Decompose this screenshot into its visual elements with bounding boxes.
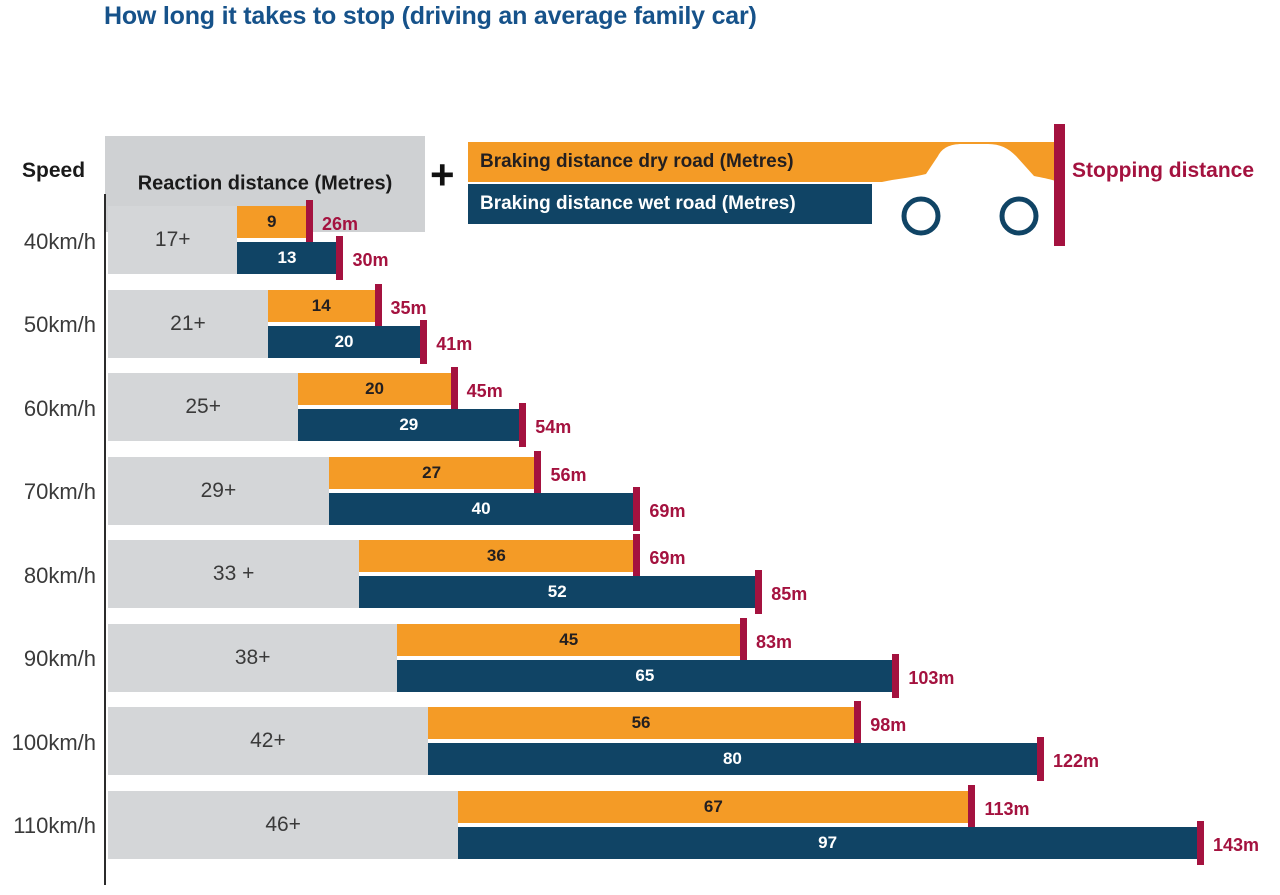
bar-group: 29+274056m69m (108, 457, 633, 525)
reaction-distance-value: 17+ (108, 228, 237, 252)
braking-wet-bar: 13 (237, 242, 336, 274)
stopping-distance-total-wet: 30m (352, 250, 388, 271)
braking-wet-value: 65 (397, 666, 892, 686)
braking-dry-bar: 27 (329, 457, 535, 489)
legend-reaction-label: Reaction distance (Metres) (105, 173, 425, 196)
speed-label: 40km/h (24, 229, 96, 255)
braking-dry-bar: 67 (458, 791, 968, 823)
bar-group: 33 +365269m85m (108, 540, 755, 608)
page-title: How long it takes to stop (driving an av… (104, 2, 757, 31)
chart-row: 40km/h17+91326m30m (0, 200, 1280, 284)
braking-wet-bar: 20 (268, 326, 420, 358)
stopping-distance-marker-wet (892, 654, 899, 698)
chart-row: 110km/h46+6797113m143m (0, 785, 1280, 869)
reaction-distance-bar: 21+ (108, 290, 268, 358)
chart-row: 100km/h42+568098m122m (0, 701, 1280, 785)
reaction-distance-bar: 42+ (108, 707, 428, 775)
stopping-distance-total-wet: 54m (535, 417, 571, 438)
braking-dry-bar: 36 (359, 540, 633, 572)
braking-dry-bar: 45 (397, 624, 740, 656)
bar-group: 38+456583m103m (108, 624, 892, 692)
chart-row: 70km/h29+274056m69m (0, 451, 1280, 535)
braking-wet-bar: 97 (458, 827, 1197, 859)
stopping-distance-marker-dry (534, 451, 541, 493)
bar-group: 25+202945m54m (108, 373, 519, 441)
stopping-distance-total-dry: 26m (322, 214, 358, 235)
legend-plus-sign: + (430, 154, 455, 196)
braking-dry-value: 45 (397, 630, 740, 650)
bar-group: 46+6797113m143m (108, 791, 1197, 859)
braking-dry-value: 36 (359, 546, 633, 566)
braking-dry-value: 20 (298, 379, 450, 399)
legend-dry-swatch: Braking distance dry road (Metres) (468, 142, 1065, 182)
braking-dry-bar: 14 (268, 290, 375, 322)
stopping-distance-total-dry: 35m (391, 298, 427, 319)
braking-dry-value: 67 (458, 797, 968, 817)
braking-wet-bar: 80 (428, 743, 1037, 775)
stopping-distance-total-wet: 69m (649, 501, 685, 522)
braking-dry-bar: 9 (237, 206, 306, 238)
stopping-distance-total-dry: 113m (984, 799, 1029, 820)
braking-wet-value: 80 (428, 749, 1037, 769)
braking-wet-value: 13 (237, 248, 336, 268)
stopping-distance-marker-dry (306, 200, 313, 242)
chart-row: 80km/h33 +365269m85m (0, 534, 1280, 618)
reaction-distance-value: 21+ (108, 312, 268, 336)
legend-stopping-distance-label: Stopping distance (1072, 159, 1254, 183)
braking-dry-bar: 56 (428, 707, 854, 739)
reaction-distance-bar: 17+ (108, 206, 237, 274)
braking-wet-bar: 52 (359, 576, 755, 608)
braking-dry-value: 27 (329, 463, 535, 483)
stopping-distance-total-wet: 103m (908, 668, 954, 689)
chart-row: 50km/h21+142035m41m (0, 284, 1280, 368)
braking-dry-bar: 20 (298, 373, 450, 405)
bar-group: 42+568098m122m (108, 707, 1037, 775)
stopping-distance-marker-dry (375, 284, 382, 326)
braking-dry-value: 9 (237, 212, 306, 232)
braking-wet-bar: 40 (329, 493, 634, 525)
stopping-distance-marker-wet (336, 236, 343, 280)
reaction-distance-bar: 25+ (108, 373, 298, 441)
stopping-distance-marker-dry (854, 701, 861, 743)
speed-label: 110km/h (13, 813, 96, 839)
speed-label: 60km/h (24, 396, 96, 422)
speed-label: 90km/h (24, 646, 96, 672)
legend-speed-label: Speed (22, 159, 85, 183)
stopping-distance-total-dry: 56m (550, 465, 586, 486)
reaction-distance-value: 42+ (108, 729, 428, 753)
stopping-distance-total-dry: 83m (756, 632, 792, 653)
stopping-distance-marker-wet (1197, 821, 1204, 865)
stopping-distance-total-wet: 85m (771, 584, 807, 605)
chart-rows: 40km/h17+91326m30m50km/h21+142035m41m60k… (0, 200, 1280, 868)
reaction-distance-value: 38+ (108, 646, 397, 670)
stopping-distance-marker-wet (1037, 737, 1044, 781)
bar-group: 21+142035m41m (108, 290, 420, 358)
stopping-distance-marker-dry (633, 534, 640, 576)
stopping-distance-marker-dry (968, 785, 975, 827)
reaction-distance-value: 29+ (108, 479, 329, 503)
reaction-distance-value: 46+ (108, 813, 458, 837)
braking-wet-bar: 29 (298, 409, 519, 441)
braking-dry-value: 14 (268, 296, 375, 316)
stopping-distance-total-dry: 45m (467, 381, 503, 402)
stopping-distance-total-wet: 122m (1053, 751, 1099, 772)
reaction-distance-bar: 29+ (108, 457, 329, 525)
braking-wet-value: 40 (329, 499, 634, 519)
stopping-distance-marker-wet (755, 570, 762, 614)
bar-group: 17+91326m30m (108, 206, 336, 274)
legend-dry-label: Braking distance dry road (Metres) (480, 151, 794, 173)
speed-label: 50km/h (24, 312, 96, 338)
speed-label: 70km/h (24, 479, 96, 505)
braking-wet-bar: 65 (397, 660, 892, 692)
braking-wet-value: 97 (458, 833, 1197, 853)
braking-wet-value: 20 (268, 332, 420, 352)
speed-label: 100km/h (12, 730, 96, 756)
stopping-distance-marker-dry (740, 618, 747, 660)
braking-dry-value: 56 (428, 713, 854, 733)
chart-row: 90km/h38+456583m103m (0, 618, 1280, 702)
reaction-distance-bar: 38+ (108, 624, 397, 692)
braking-wet-value: 29 (298, 415, 519, 435)
stopping-distance-marker-wet (519, 403, 526, 447)
braking-wet-value: 52 (359, 582, 755, 602)
stopping-distance-total-dry: 69m (649, 548, 685, 569)
stopping-distance-marker-wet (420, 320, 427, 364)
stopping-distance-total-dry: 98m (870, 715, 906, 736)
chart-row: 60km/h25+202945m54m (0, 367, 1280, 451)
reaction-distance-value: 33 + (108, 562, 359, 586)
reaction-distance-bar: 46+ (108, 791, 458, 859)
stopping-distance-total-wet: 143m (1213, 835, 1259, 856)
stopping-distance-total-wet: 41m (436, 334, 472, 355)
stopping-distance-marker-dry (451, 367, 458, 409)
reaction-distance-value: 25+ (108, 395, 298, 419)
legend: Speed Reaction distance (Metres) + Braki… (0, 58, 1280, 194)
speed-label: 80km/h (24, 563, 96, 589)
reaction-distance-bar: 33 + (108, 540, 359, 608)
stopping-distance-marker-wet (633, 487, 640, 531)
